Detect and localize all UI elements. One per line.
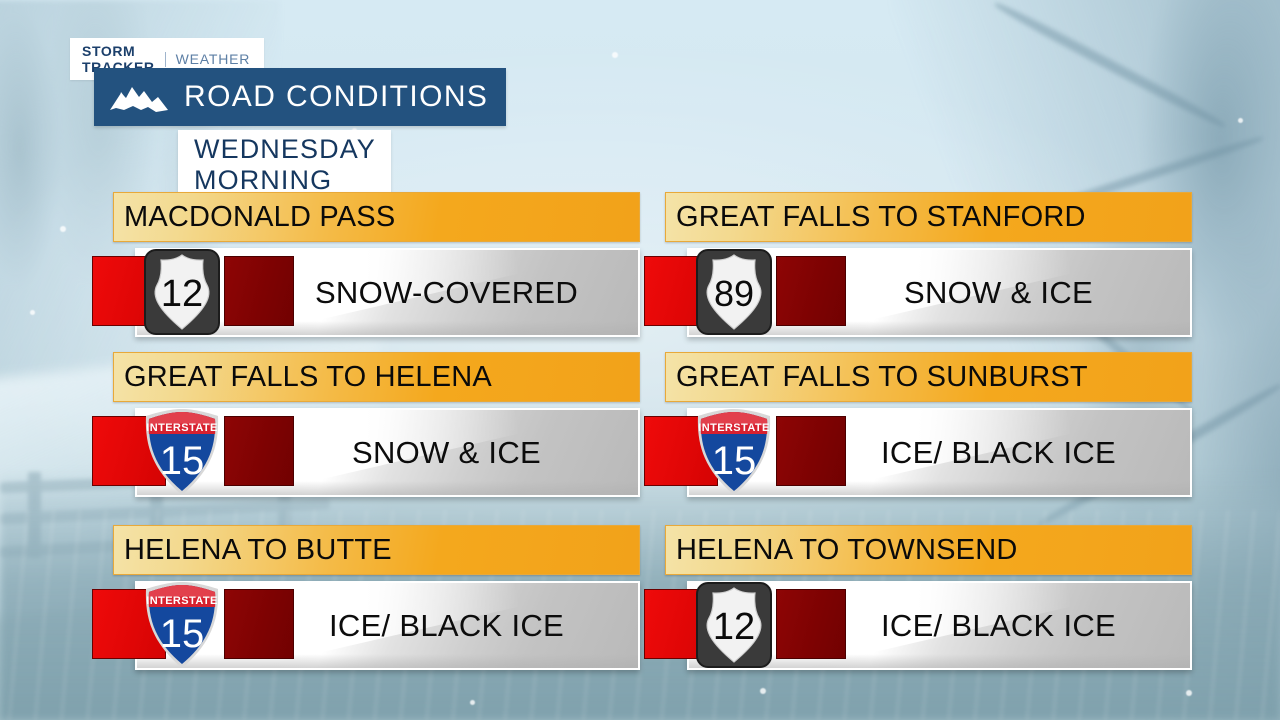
- route-label: HELENA TO TOWNSEND: [666, 534, 1018, 567]
- route-header: HELENA TO TOWNSEND: [665, 525, 1192, 575]
- us-highway-shield-icon: 12: [139, 244, 225, 340]
- route-label: GREAT FALLS TO SUNBURST: [666, 361, 1088, 394]
- road-condition-card[interactable]: MACDONALD PASS SNOW-COVERED 12: [92, 192, 640, 337]
- route-label: MACDONALD PASS: [114, 201, 395, 234]
- route-marker: INTERSTATE 15: [691, 404, 777, 500]
- route-marker: 12: [139, 244, 225, 340]
- route-label: GREAT FALLS TO STANFORD: [666, 201, 1086, 234]
- route-header: GREAT FALLS TO STANFORD: [665, 192, 1192, 242]
- road-conditions-grid: MACDONALD PASS SNOW-COVERED 12 GREAT FAL…: [0, 0, 1280, 720]
- red-accent-right: [776, 256, 846, 326]
- marker-number: 12: [713, 606, 755, 648]
- route-marker: 12: [691, 577, 777, 673]
- route-header: GREAT FALLS TO HELENA: [113, 352, 640, 402]
- interstate-shield-icon: INTERSTATE 15: [139, 577, 225, 673]
- red-accent-right: [224, 416, 294, 486]
- marker-number: 15: [712, 439, 757, 483]
- marker-banner: INTERSTATE: [698, 422, 769, 434]
- road-condition-card[interactable]: HELENA TO TOWNSEND ICE/ BLACK ICE 12: [644, 525, 1192, 670]
- route-marker: 89: [691, 244, 777, 340]
- route-header: GREAT FALLS TO SUNBURST: [665, 352, 1192, 402]
- interstate-shield-icon: INTERSTATE 15: [691, 404, 777, 500]
- red-accent-right: [776, 589, 846, 659]
- red-accent-right: [224, 589, 294, 659]
- us-highway-shield-icon: 89: [691, 244, 777, 340]
- route-marker: INTERSTATE 15: [139, 577, 225, 673]
- route-marker: INTERSTATE 15: [139, 404, 225, 500]
- marker-number: 89: [714, 273, 754, 314]
- road-condition-card[interactable]: GREAT FALLS TO SUNBURST ICE/ BLACK ICE I…: [644, 352, 1192, 497]
- interstate-shield-icon: INTERSTATE 15: [139, 404, 225, 500]
- route-header: HELENA TO BUTTE: [113, 525, 640, 575]
- road-condition-card[interactable]: HELENA TO BUTTE ICE/ BLACK ICE INTERSTAT…: [92, 525, 640, 670]
- red-accent-right: [224, 256, 294, 326]
- route-header: MACDONALD PASS: [113, 192, 640, 242]
- marker-number: 15: [160, 439, 205, 483]
- route-label: HELENA TO BUTTE: [114, 534, 392, 567]
- red-accent-right: [776, 416, 846, 486]
- marker-number: 12: [161, 273, 203, 315]
- road-condition-card[interactable]: GREAT FALLS TO STANFORD SNOW & ICE 89: [644, 192, 1192, 337]
- marker-banner: INTERSTATE: [146, 422, 217, 434]
- road-condition-card[interactable]: GREAT FALLS TO HELENA SNOW & ICE INTERST…: [92, 352, 640, 497]
- marker-banner: INTERSTATE: [146, 595, 217, 607]
- marker-number: 15: [160, 612, 205, 656]
- us-highway-shield-icon: 12: [691, 577, 777, 673]
- route-label: GREAT FALLS TO HELENA: [114, 361, 492, 394]
